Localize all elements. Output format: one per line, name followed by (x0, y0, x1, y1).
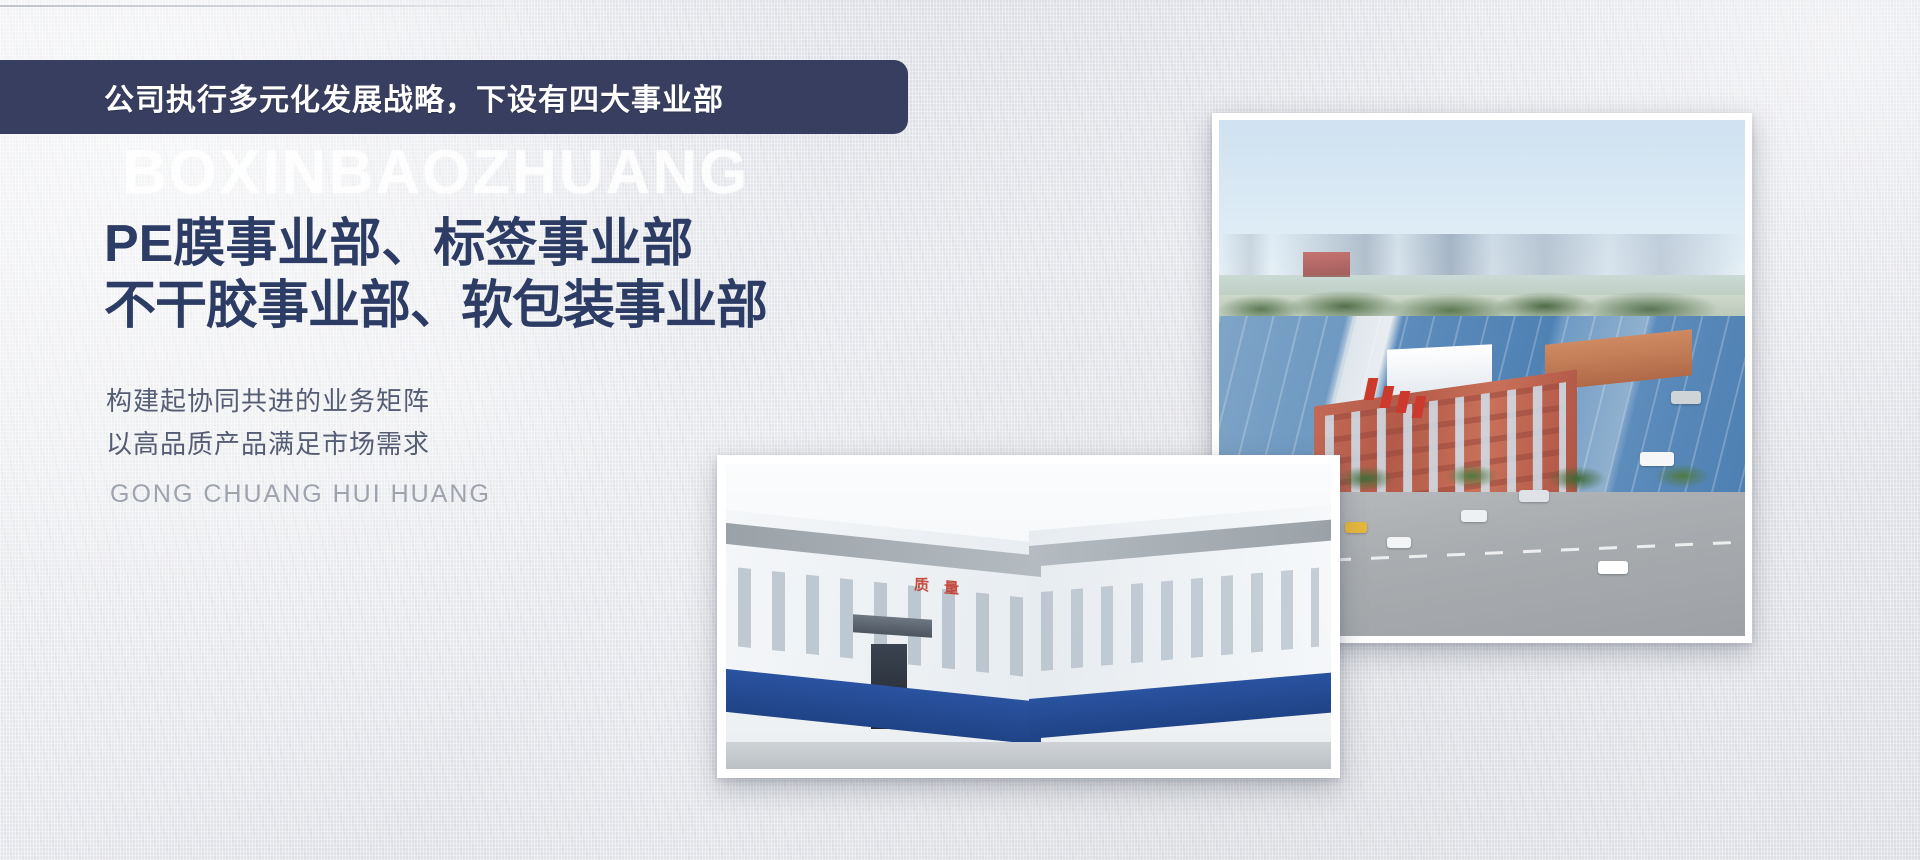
parked-car (1671, 391, 1701, 404)
wall-signage-char: 量 (944, 576, 959, 598)
headline-line-2: 不干胶事业部、软包装事业部 (104, 275, 767, 337)
distant-red-building (1303, 252, 1350, 278)
hero-banner-stage: 公司执行多元化发展战略，下设有四大事业部 BOXINBAOZHUANG PE膜事… (0, 0, 1920, 860)
wall-signage-char: 质 (914, 573, 929, 595)
subtext-line-2: 以高品质产品满足市场需求 (106, 423, 430, 466)
subtext-line-1: 构建起协同共进的业务矩阵 (106, 380, 430, 423)
parked-car (1387, 537, 1411, 548)
parked-car (1598, 561, 1628, 574)
brand-watermark-text: BOXINBAOZHUANG (122, 142, 749, 204)
parked-car (1345, 522, 1367, 533)
warehouse-exterior-photo-image: 质 量 (726, 464, 1331, 769)
hero-subtext: 构建起协同共进的业务矩阵 以高品质产品满足市场需求 (106, 380, 430, 466)
parked-car (1640, 452, 1674, 466)
headline-line-1: PE膜事业部、标签事业部 (104, 213, 767, 275)
distant-skyline (1219, 234, 1745, 275)
hero-pinyin-text: GONG CHUANG HUI HUANG (110, 480, 491, 509)
parked-car (1519, 490, 1549, 502)
hero-headline: PE膜事业部、标签事业部 不干胶事业部、软包装事业部 (104, 213, 767, 337)
warehouse-exterior-photo: 质 量 (717, 455, 1340, 778)
parked-car (1461, 510, 1487, 522)
warehouse-ground (726, 742, 1331, 769)
